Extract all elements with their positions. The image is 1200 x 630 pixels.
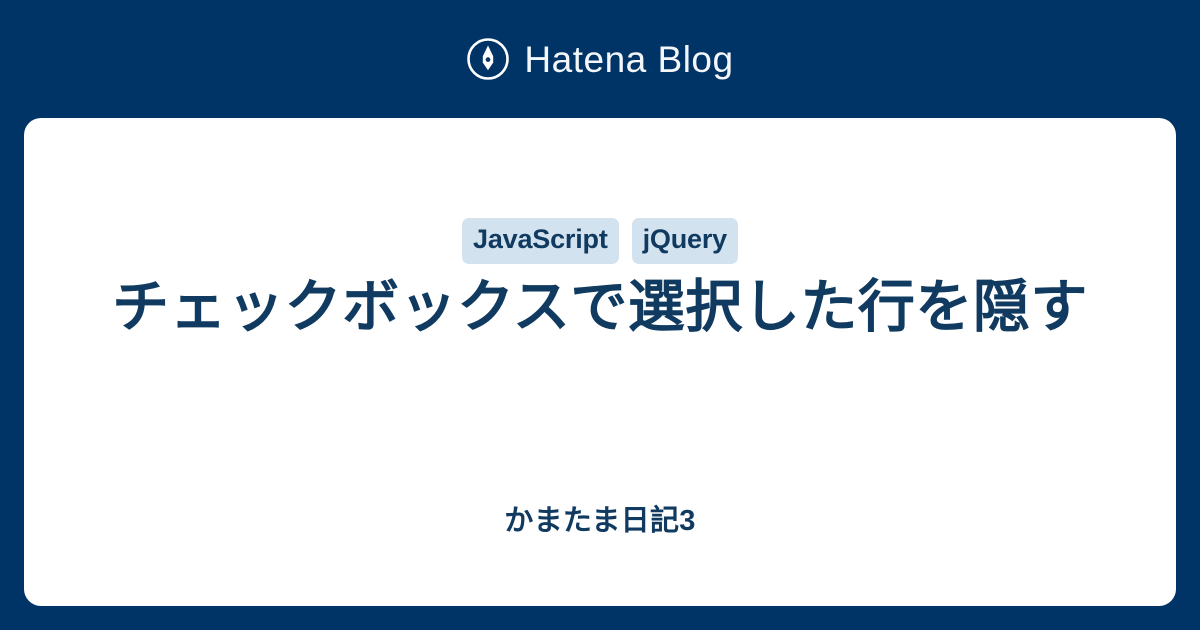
entry-card: JavaScript jQuery チェックボックスで選択した行を隠す かまたま… <box>24 118 1176 606</box>
tag-jquery[interactable]: jQuery <box>632 218 738 264</box>
tag-javascript[interactable]: JavaScript <box>462 218 619 264</box>
entry-title: チェックボックスで選択した行を隠す <box>24 270 1176 346</box>
blog-name: かまたま日記3 <box>24 504 1176 539</box>
entry-card-inner: JavaScript jQuery チェックボックスで選択した行を隠す かまたま… <box>24 118 1176 606</box>
brand-header: Hatena Blog <box>0 0 1200 118</box>
brand-name: Hatena Blog <box>524 41 733 78</box>
tag-list: JavaScript jQuery <box>24 218 1176 264</box>
hatena-pen-nib-icon <box>466 37 510 81</box>
